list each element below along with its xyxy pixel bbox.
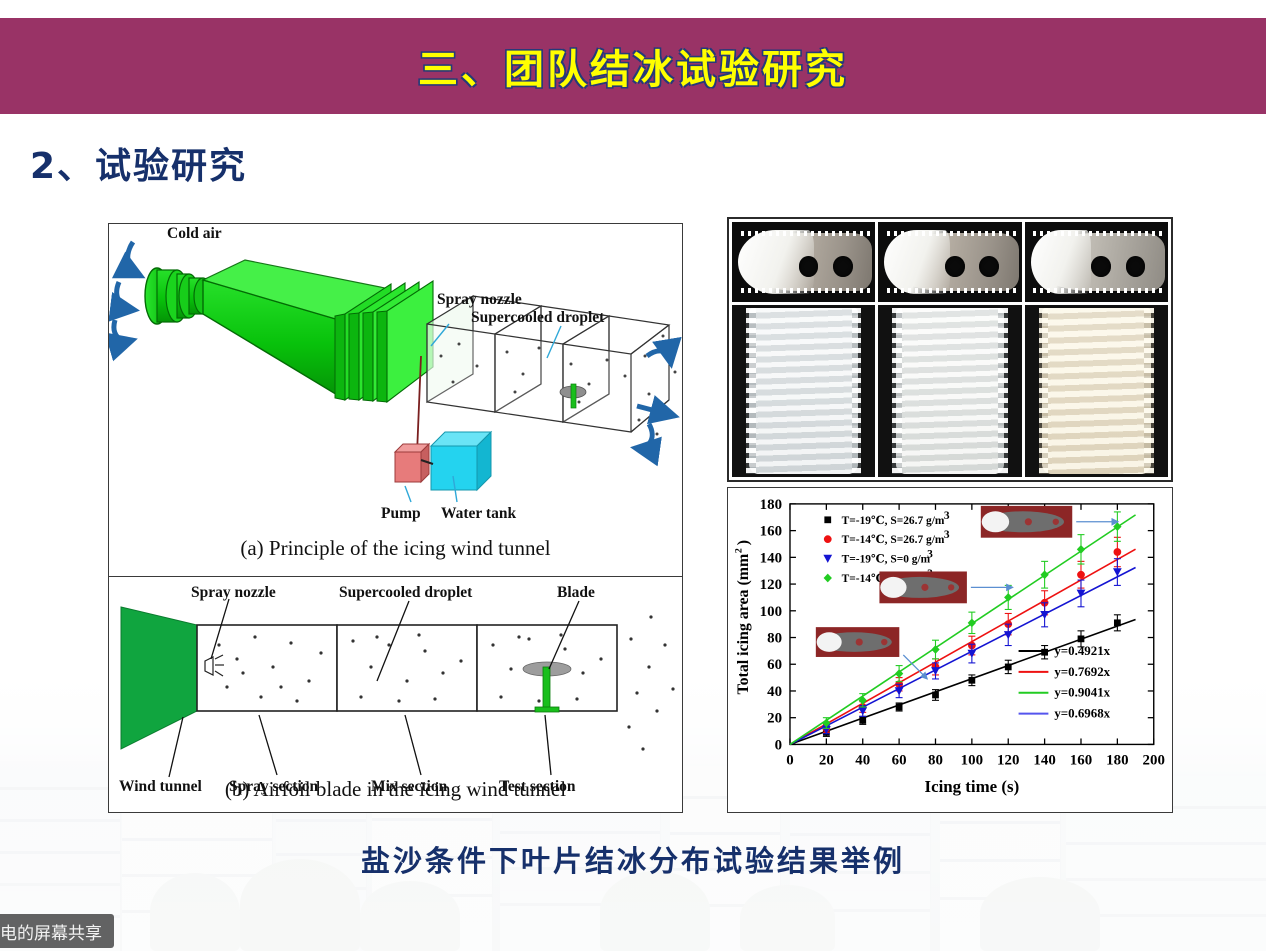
label-supercooled-droplet-b: Supercooled droplet	[339, 584, 473, 601]
cold-air-arrows	[114, 242, 141, 341]
experiment-photo-grid	[727, 217, 1173, 482]
figure-a-svg: Cold air Spray nozzle Supercooled drople…	[109, 224, 684, 574]
label-cold-air: Cold air	[167, 225, 222, 242]
label-spray-nozzle-b: Spray nozzle	[191, 584, 276, 601]
label-blade: Blade	[557, 584, 595, 601]
section-heading: 2、试验研究	[30, 137, 247, 189]
svg-text:3: 3	[944, 510, 950, 522]
svg-text:160: 160	[1070, 752, 1092, 768]
svg-text:T=-19℃, S=26.7 g/m: T=-19℃, S=26.7 g/m	[842, 515, 945, 527]
screen-share-label: 电的屏幕共享	[0, 919, 102, 944]
figure-b-airfoil-blade: Spray nozzle Supercooled droplet Blade W…	[109, 576, 682, 813]
svg-text:160: 160	[760, 524, 782, 540]
svg-text:y=0.6968x: y=0.6968x	[1054, 706, 1110, 721]
mix-section-box	[337, 625, 477, 711]
svg-text:100: 100	[760, 604, 782, 620]
svg-text:100: 100	[961, 752, 983, 768]
svg-text:3: 3	[944, 529, 950, 541]
svg-text:0: 0	[786, 752, 793, 768]
figure-b-caption: (b) Airfoil blade in the icing wind tunn…	[109, 777, 682, 802]
svg-text:0: 0	[775, 737, 782, 753]
slide-title-bar: 三、团队结冰试验研究	[0, 18, 1266, 114]
svg-text:80: 80	[767, 630, 782, 646]
svg-text:y=0.9041x: y=0.9041x	[1054, 685, 1110, 700]
slide-title-text: 三、团队结冰试验研究	[418, 37, 848, 95]
svg-text:120: 120	[997, 752, 1019, 768]
svg-text:140: 140	[760, 550, 782, 566]
svg-text:y=0.7692x: y=0.7692x	[1054, 664, 1110, 679]
svg-text:2: 2	[733, 548, 744, 553]
photo-ice-column-3	[1025, 305, 1168, 477]
svg-text:200: 200	[1143, 752, 1165, 768]
svg-text:20: 20	[767, 711, 782, 727]
schematic-figure-panel: Cold air Spray nozzle Supercooled drople…	[108, 223, 683, 813]
svg-text:180: 180	[760, 497, 782, 513]
svg-text:60: 60	[892, 752, 907, 768]
label-water-tank: Water tank	[441, 505, 516, 522]
photo-airfoil-3	[1025, 222, 1168, 302]
figure-a-icing-wind-tunnel: Cold air Spray nozzle Supercooled drople…	[109, 224, 682, 574]
wind-tunnel-contraction	[145, 260, 433, 402]
label-pump: Pump	[381, 505, 421, 522]
label-supercooled-droplet-a: Supercooled droplet	[471, 309, 605, 326]
svg-text:120: 120	[760, 577, 782, 593]
svg-text:40: 40	[767, 684, 782, 700]
svg-text:20: 20	[819, 752, 834, 768]
slide-canvas: 三、团队结冰试验研究 2、试验研究	[0, 0, 1266, 951]
svg-text:T=-19℃, S=0 g/m: T=-19℃, S=0 g/m	[842, 554, 931, 566]
svg-text:40: 40	[855, 752, 870, 768]
screen-share-overlay: 电的屏幕共享	[0, 914, 114, 948]
svg-text:80: 80	[928, 752, 943, 768]
svg-text:Total icing area (mm: Total icing area (mm	[735, 554, 752, 695]
svg-text:180: 180	[1106, 752, 1128, 768]
photo-airfoil-1	[732, 222, 875, 302]
figure-a-caption: (a) Principle of the icing wind tunnel	[109, 536, 682, 561]
svg-text:): )	[735, 540, 752, 545]
svg-text:60: 60	[767, 657, 782, 673]
svg-text:3: 3	[927, 549, 933, 561]
bottom-caption: 盐沙条件下叶片结冰分布试验结果举例	[0, 838, 1266, 880]
icing-area-chart: 0204060801001201401601802000204060801001…	[728, 488, 1172, 812]
icing-area-chart-panel: 0204060801001201401601802000204060801001…	[727, 487, 1173, 813]
photo-ice-column-1	[732, 305, 875, 477]
svg-text:y=0.4921x: y=0.4921x	[1054, 643, 1110, 658]
svg-text:T=-14℃, S=26.7 g/m: T=-14℃, S=26.7 g/m	[842, 534, 945, 546]
photo-ice-column-2	[878, 305, 1021, 477]
svg-text:Icing time (s): Icing time (s)	[925, 777, 1020, 796]
label-spray-nozzle-a: Spray nozzle	[437, 291, 522, 308]
wind-tunnel-wedge	[121, 607, 197, 749]
svg-text:140: 140	[1033, 752, 1055, 768]
photo-airfoil-2	[878, 222, 1021, 302]
